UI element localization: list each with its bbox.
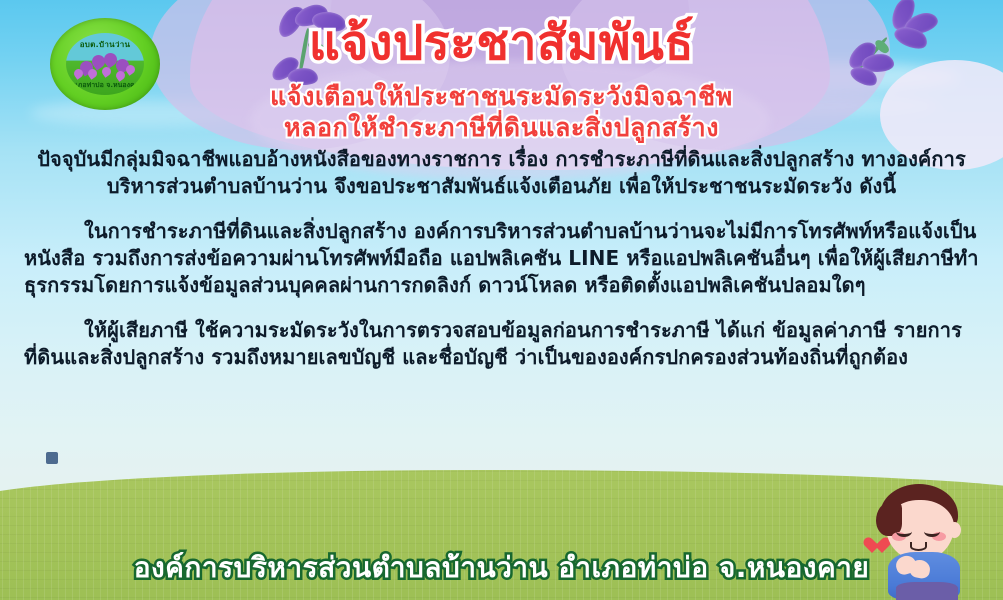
small-mark-icon	[46, 452, 58, 464]
poster-title: แจ้งประชาสัมพันธ์	[309, 18, 694, 68]
subtitle-container: แจ้งเตือนให้ประชาชนระมัดระวังมิจฉาชีพ หล…	[0, 82, 1003, 143]
footer-organisation-name: องค์การบริหารส่วนตำบลบ้านว่าน อำเภอท่าบ่…	[134, 546, 870, 590]
footer-container: องค์การบริหารส่วนตำบลบ้านว่าน อำเภอท่าบ่…	[0, 546, 1003, 590]
paragraph-2: ในการชำระภาษีที่ดินและสิ่งปลูกสร้าง องค์…	[24, 218, 979, 299]
title-container: แจ้งประชาสัมพันธ์	[0, 18, 1003, 68]
body-copy: ปัจจุบันมีกลุ่มมิจฉาชีพแอบอ้างหนังสือของ…	[24, 146, 979, 385]
mascot-eye	[924, 526, 940, 537]
paragraph-1: ปัจจุบันมีกลุ่มมิจฉาชีพแอบอ้างหนังสือของ…	[24, 146, 979, 200]
paragraph-3: ให้ผู้เสียภาษี ใช้ความระมัดระวังในการตรว…	[24, 317, 979, 371]
subtitle-line-1: แจ้งเตือนให้ประชาชนระมัดระวังมิจฉาชีพ	[0, 82, 1003, 113]
mascot-eye	[896, 526, 912, 537]
announcement-poster: อบต.บ้านว่าน อำเภอท่าบ่อ จ.หนองคาย แจ้งป…	[0, 0, 1003, 600]
mascot-ear	[948, 522, 961, 538]
subtitle-line-2: หลอกให้ชำระภาษีที่ดินและสิ่งปลูกสร้าง	[0, 113, 1003, 144]
